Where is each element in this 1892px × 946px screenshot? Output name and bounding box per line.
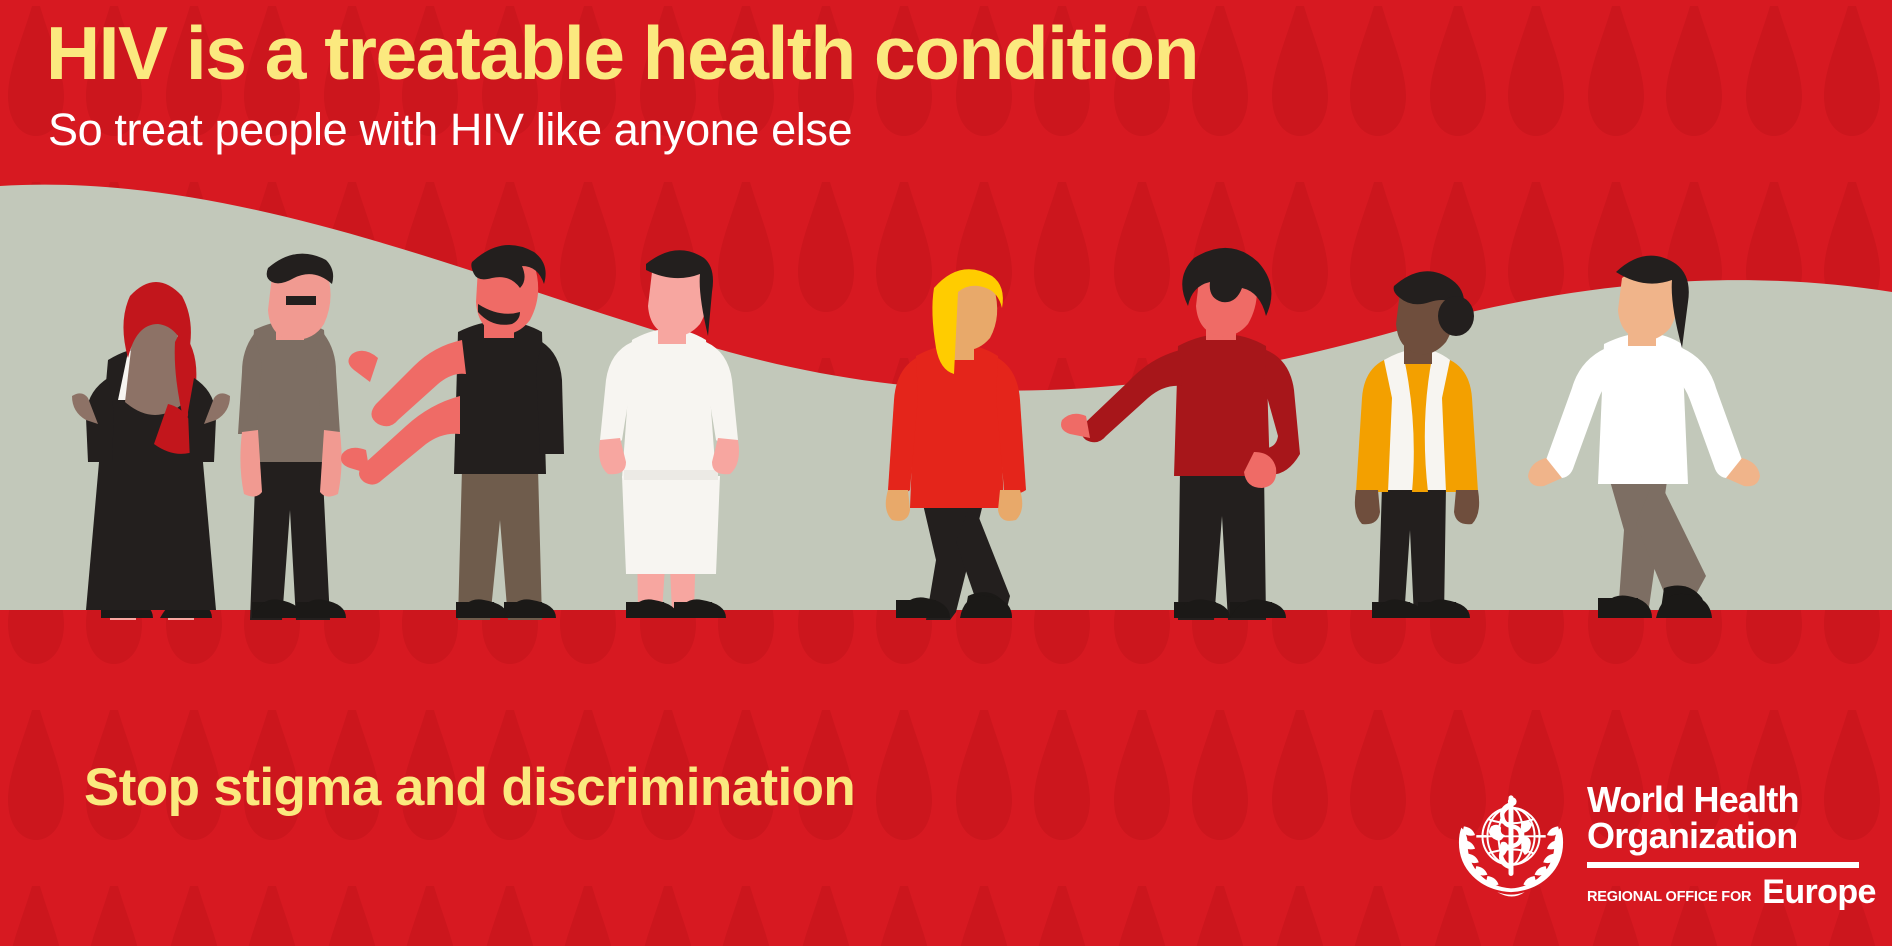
who-regional-office-label: REGIONAL OFFICE FOR	[1587, 890, 1751, 910]
figure-man-in-taupe-tshirt	[238, 254, 346, 620]
figure-woman-in-white-dress	[599, 250, 739, 618]
page-subtitle: So treat people with HIV like anyone els…	[48, 104, 852, 156]
poster-canvas: HIV is a treatable health condition So t…	[0, 0, 1892, 946]
campaign-tagline: Stop stigma and discrimination	[84, 757, 855, 818]
figure-blonde-woman-in-red-top	[886, 269, 1026, 620]
who-wordmark: World Health Organization REGIONAL OFFIC…	[1587, 782, 1876, 909]
figure-woman-in-orange-cardigan	[1355, 271, 1479, 618]
figure-bearded-man-in-black-tee	[341, 245, 564, 620]
figure-woman-in-red-hijab	[72, 282, 230, 620]
who-name-line2: Organization	[1587, 818, 1876, 854]
figure-woman-in-white-top-walking	[1528, 256, 1760, 618]
who-emblem-icon	[1449, 782, 1573, 908]
who-region-name: Europe	[1762, 875, 1876, 909]
who-logo: World Health Organization REGIONAL OFFIC…	[1449, 782, 1869, 922]
who-name-line1: World Health	[1587, 782, 1876, 818]
figure-man-in-dark-red-sweater	[1061, 248, 1300, 620]
page-title: HIV is a treatable health condition	[46, 14, 1198, 92]
who-divider-rule	[1587, 862, 1859, 868]
